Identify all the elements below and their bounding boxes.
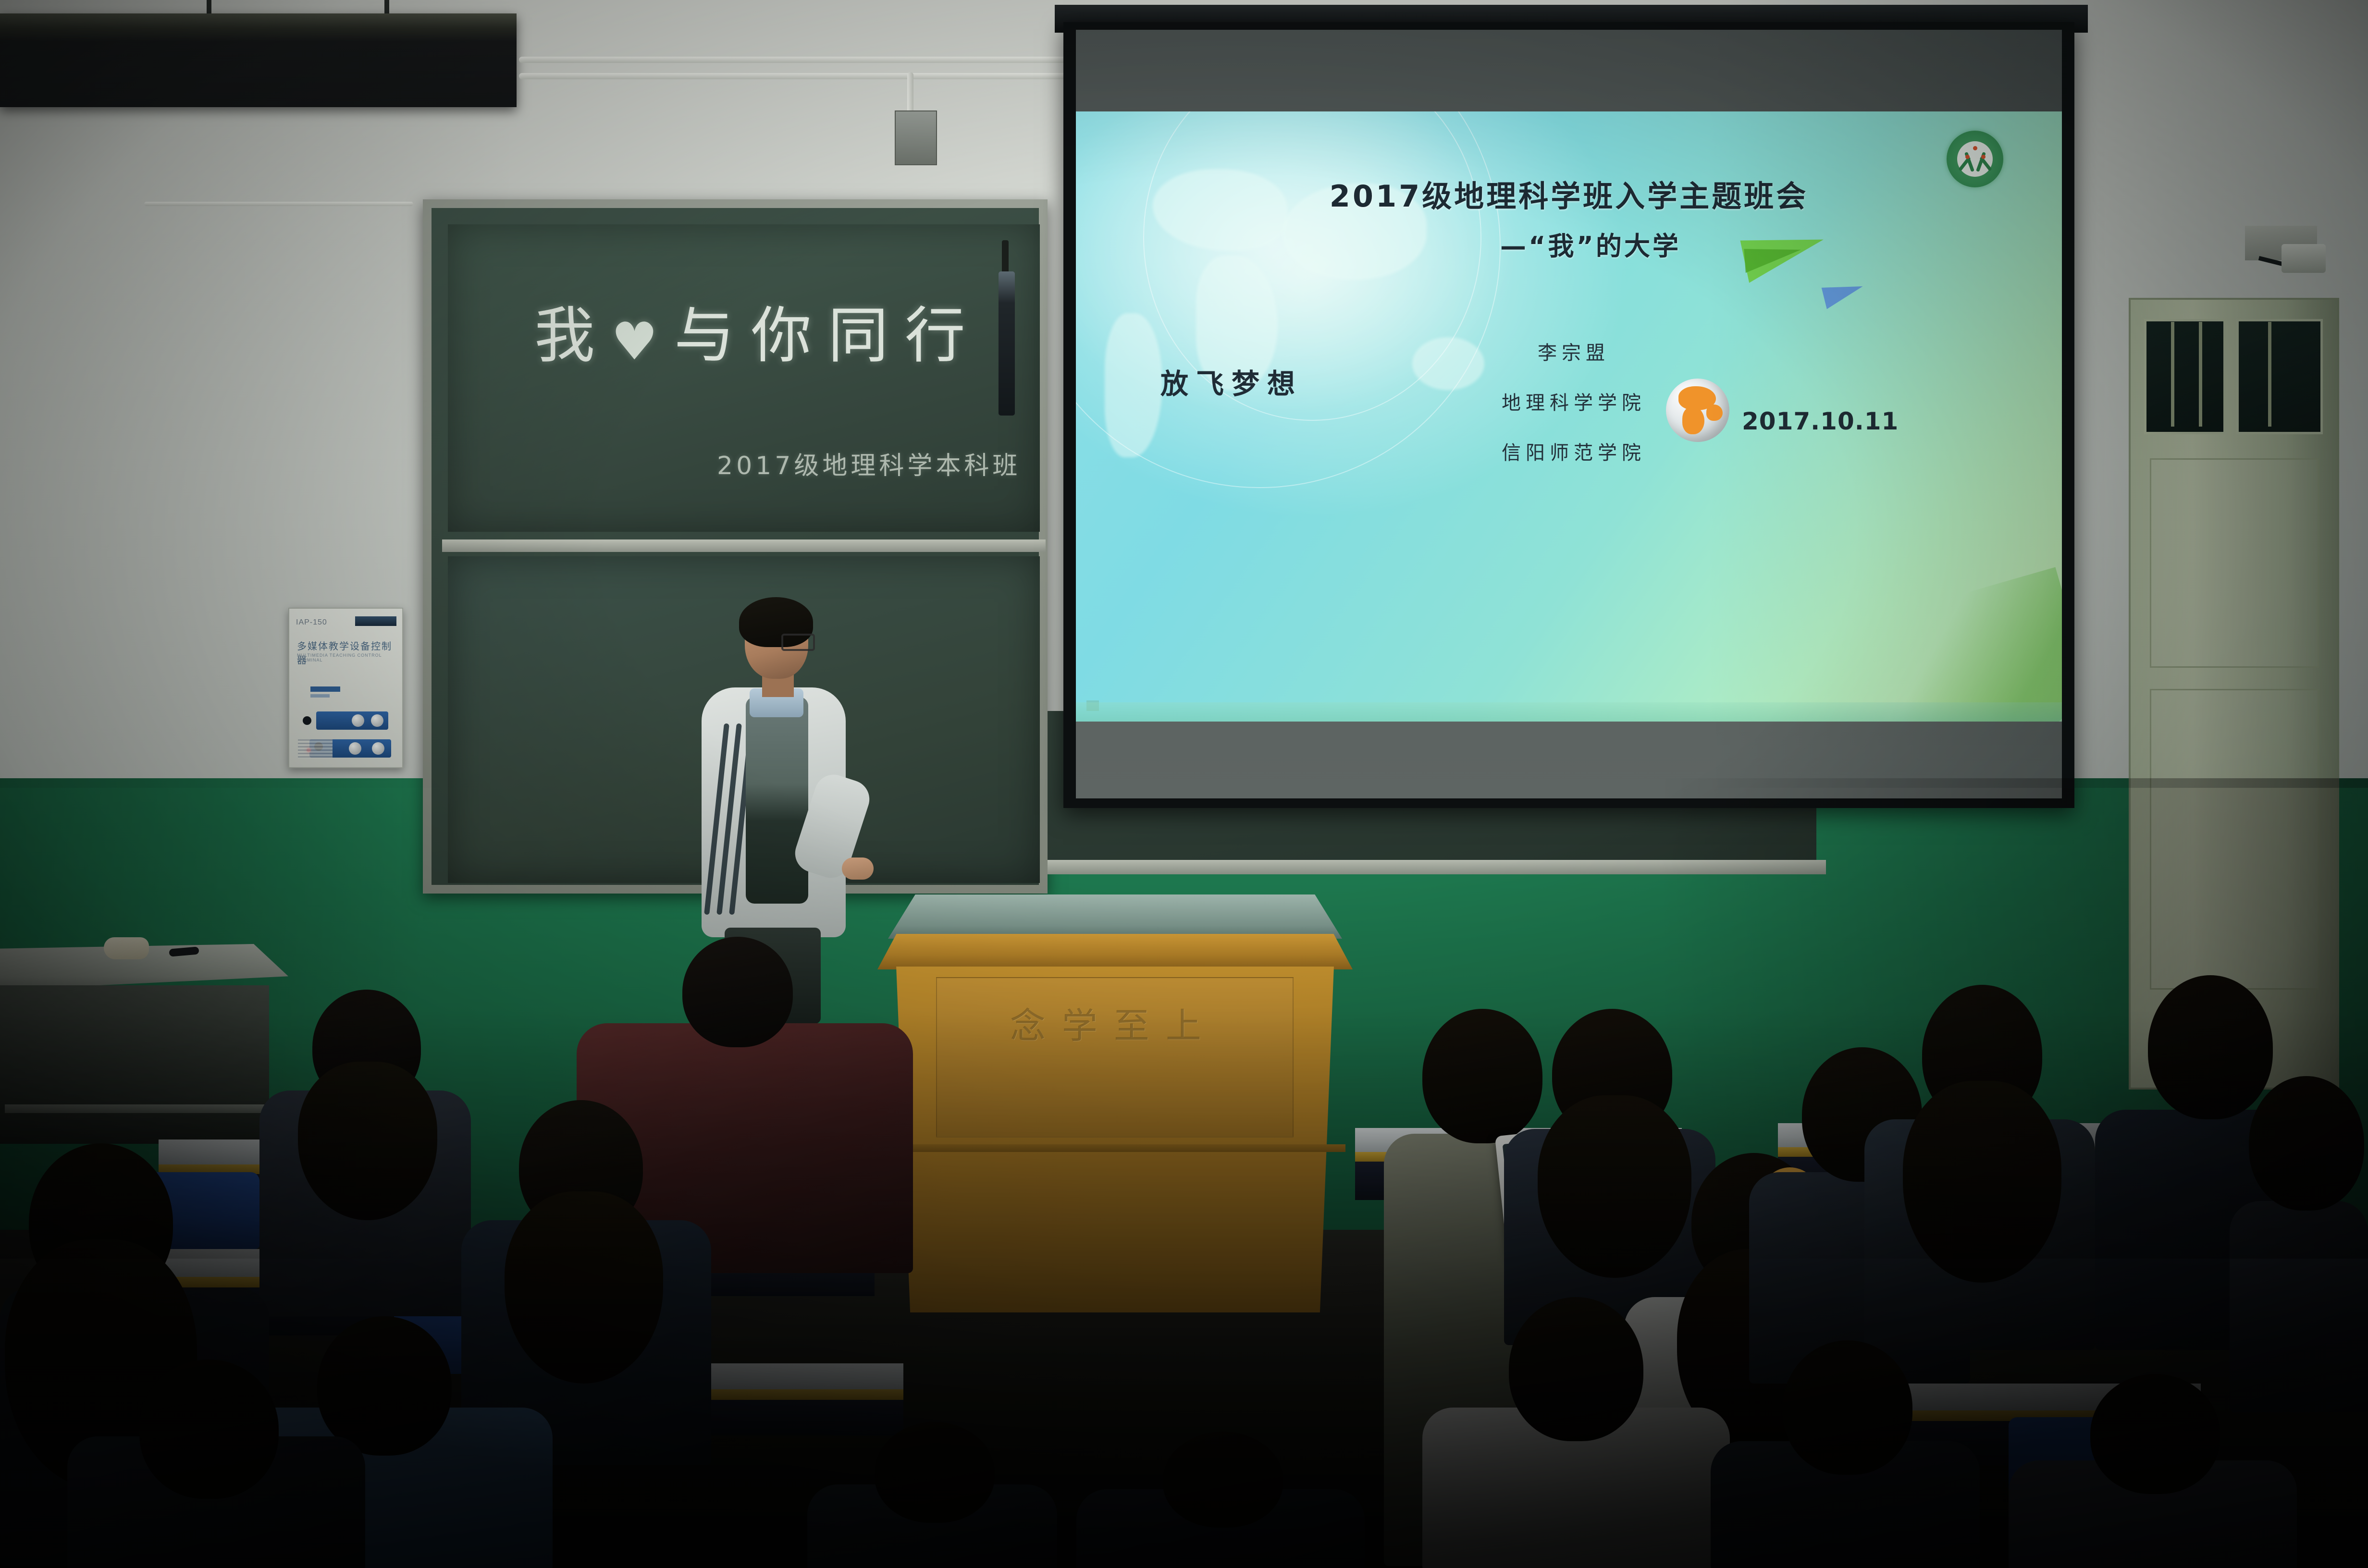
student-right-front-3 (2009, 1374, 2297, 1568)
student-head (1783, 1340, 1912, 1475)
student-head (2090, 1374, 2220, 1494)
student-mid-front (1076, 1432, 1365, 1568)
student-head (1163, 1432, 1283, 1528)
student-row-mid-1 (807, 1422, 1057, 1568)
classroom-photo-scene: 我♥与你同行 2017级地理科学本科班 IAP-150 多媒体教学设备控制器 M… (0, 0, 2368, 1568)
student-head (139, 1360, 279, 1499)
student-right-front-1 (1422, 1297, 1730, 1568)
upper-wall-shading (0, 0, 2368, 788)
student-right-front-2 (1711, 1340, 1980, 1568)
wainscot-shading (0, 778, 2368, 1259)
student-row-front-left-4 (67, 1360, 365, 1568)
student-head (875, 1422, 995, 1523)
student-head (1509, 1297, 1643, 1441)
